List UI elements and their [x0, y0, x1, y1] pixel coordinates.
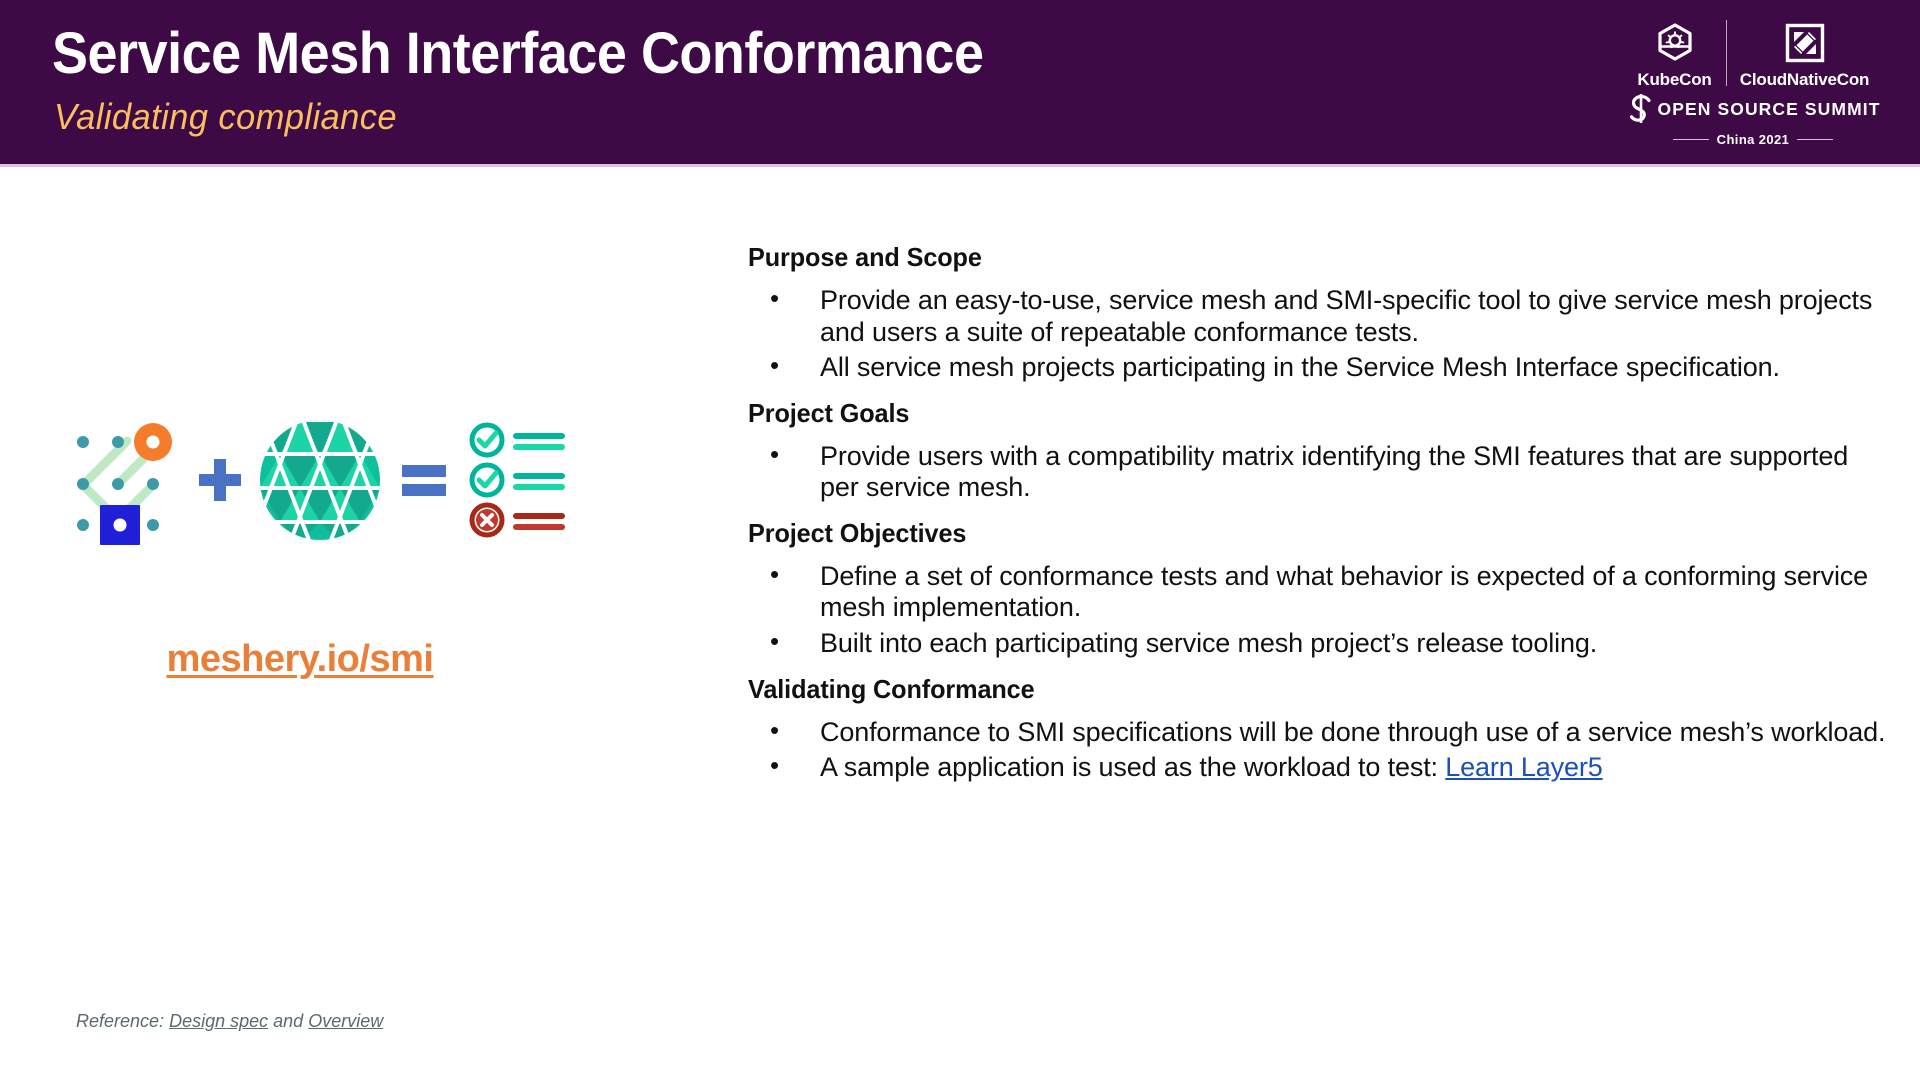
reference-prefix: Reference:	[76, 1011, 164, 1031]
bullet-list: Define a set of conformance tests and wh…	[748, 561, 1888, 660]
bullet-list: Provide users with a compatibility matri…	[748, 441, 1888, 504]
conformance-results-icon	[463, 420, 583, 540]
section-heading: Project Objectives	[748, 518, 1854, 549]
conformance-equation-graphic	[55, 410, 655, 550]
conference-year-label: China 2021	[1717, 132, 1790, 147]
year-rule-left	[1673, 139, 1709, 140]
section-project-objectives: Project Objectives Define a set of confo…	[748, 518, 1888, 660]
page-subtitle: Validating compliance	[54, 96, 397, 138]
content-column: Purpose and Scope Provide an easy-to-use…	[748, 242, 1888, 798]
reference-footnote: Reference: Design spec and Overview	[76, 1011, 383, 1032]
section-heading: Validating Conformance	[748, 674, 1854, 705]
list-item-text: A sample application is used as the work…	[820, 752, 1445, 782]
equals-operator	[385, 461, 463, 499]
list-item-with-link: A sample application is used as the work…	[748, 752, 1888, 784]
open-source-summit-wordmark: OPEN SOURCE SUMMIT	[1658, 99, 1881, 120]
smi-logo	[55, 415, 185, 545]
kubecon-wordmark: KubeCon	[1637, 70, 1711, 90]
cncf-square-icon	[1785, 20, 1825, 66]
result-row-fail-1	[472, 505, 565, 535]
list-item: Provide an easy-to-use, service mesh and…	[748, 285, 1888, 348]
learn-layer5-link[interactable]: Learn Layer5	[1445, 752, 1602, 782]
logo-divider	[1726, 20, 1727, 86]
section-heading: Purpose and Scope	[748, 242, 1854, 273]
year-rule-right	[1797, 139, 1833, 140]
section-validating-conformance: Validating Conformance Conformance to SM…	[748, 674, 1888, 784]
cloudnativecon-wordmark: CloudNativeCon	[1740, 70, 1869, 90]
header-underline-rule	[0, 164, 1920, 167]
result-row-pass-2	[472, 465, 565, 495]
reference-conjunction: and	[273, 1011, 303, 1031]
conference-logo-lockup: KubeCon CloudNativeCon OPEN SOURCE SUMMI…	[1628, 8, 1878, 154]
reference-design-spec-link[interactable]: Design spec	[169, 1011, 268, 1031]
kubernetes-helm-icon	[1654, 20, 1696, 66]
plus-operator	[185, 456, 255, 504]
section-purpose-and-scope: Purpose and Scope Provide an easy-to-use…	[748, 242, 1888, 384]
cloudnativecon-logo: CloudNativeCon	[1735, 20, 1875, 90]
list-item: Provide users with a compatibility matri…	[748, 441, 1888, 504]
page-title: Service Mesh Interface Conformance	[52, 24, 983, 85]
meshery-logo	[255, 415, 385, 545]
reference-overview-link[interactable]: Overview	[308, 1011, 383, 1031]
bullet-list: Provide an easy-to-use, service mesh and…	[748, 285, 1888, 384]
meshery-smi-link-wrapper: meshery.io/smi	[0, 638, 600, 681]
open-source-summit-s-icon	[1626, 92, 1656, 126]
kubecon-logo: KubeCon	[1632, 20, 1718, 90]
list-item: All service mesh projects participating …	[748, 352, 1888, 384]
bullet-list: Conformance to SMI specifications will b…	[748, 717, 1888, 784]
list-item: Conformance to SMI specifications will b…	[748, 717, 1888, 749]
list-item: Define a set of conformance tests and wh…	[748, 561, 1888, 624]
meshery-smi-link[interactable]: meshery.io/smi	[167, 638, 434, 680]
section-heading: Project Goals	[748, 398, 1854, 429]
result-row-pass-1	[472, 425, 565, 455]
list-item: Built into each participating service me…	[748, 628, 1888, 660]
section-project-goals: Project Goals Provide users with a compa…	[748, 398, 1888, 504]
